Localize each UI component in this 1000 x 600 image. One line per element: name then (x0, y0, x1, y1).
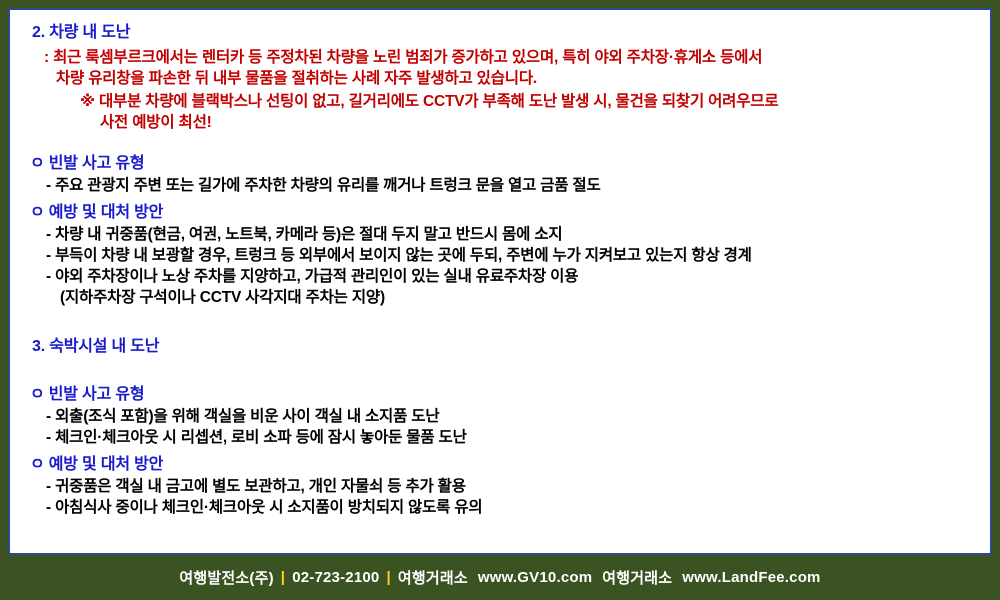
footer-separator-2: | (379, 569, 397, 586)
footer-phone: 02-723-2100 (292, 569, 379, 586)
slide-content: 2. 차량 내 도난 : 최근 룩셈부르크에서는 렌터카 등 주정차된 차량을 … (10, 10, 990, 553)
spacer (24, 358, 976, 384)
spacer (24, 133, 976, 153)
section-3-group-1-item-2: - 체크인·체크아웃 시 리셉션, 로비 소파 등에 잠시 놓아둔 물품 도난 (24, 427, 976, 448)
spacer (24, 308, 976, 334)
footer-company: 여행발전소(주) (179, 567, 273, 588)
section-2-note-line-2: 사전 예방이 최선! (24, 112, 976, 133)
section-2-group-2-item-2: - 부득이 차량 내 보광할 경우, 트렁크 등 외부에서 보이지 않는 곳에 … (24, 245, 976, 266)
slide-frame: 2. 차량 내 도난 : 최근 룩셈부르크에서는 렌터카 등 주정차된 차량을 … (0, 0, 1000, 600)
section-2-group-2-item-4: (지하주차장 구석이나 CCTV 사각지대 주차는 지양) (24, 287, 976, 308)
footer-partner-2-url[interactable]: www.LandFee.com (682, 569, 820, 586)
section-2-note-line-1: ※ 대부분 차량에 블랙박스나 선팅이 없고, 길거리에도 CCTV가 부족해 … (24, 91, 976, 112)
footer-partner-1-name: 여행거래소 (398, 567, 468, 588)
section-3-group-2-item-2: - 아침식사 중이나 체크인·체크아웃 시 소지품이 방치되지 않도록 유의 (24, 497, 976, 518)
section-2-group-1-item-1: - 주요 관광지 주변 또는 길가에 주차한 차량의 유리를 깨거나 트렁크 문… (24, 175, 976, 196)
section-2-group-2-heading: ㅇ 예방 및 대처 방안 (24, 202, 976, 224)
section-3-group-1-heading: ㅇ 빈발 사고 유형 (24, 384, 976, 406)
footer-partner-1-url[interactable]: www.GV10.com (478, 569, 592, 586)
footer-bar: 여행발전소(주) | 02-723-2100 | 여행거래소 www.GV10.… (0, 555, 1000, 600)
section-3-group-1-item-1: - 외출(조식 포함)을 위해 객실을 비운 사이 객실 내 소지품 도난 (24, 406, 976, 427)
footer-partner-2-name: 여행거래소 (602, 567, 672, 588)
section-2-group-1-heading: ㅇ 빈발 사고 유형 (24, 153, 976, 175)
section-3-group-2-heading: ㅇ 예방 및 대처 방안 (24, 454, 976, 476)
section-title-2: 2. 차량 내 도난 (24, 22, 976, 44)
slide-inner-frame: 2. 차량 내 도난 : 최근 룩셈부르크에서는 렌터카 등 주정차된 차량을 … (8, 8, 992, 555)
section-2-group-2-item-1: - 차량 내 귀중품(현금, 여권, 노트북, 카메라 등)은 절대 두지 말고… (24, 224, 976, 245)
section-2-group-2-item-3: - 야외 주차장이나 노상 주차를 지양하고, 가급적 관리인이 있는 실내 유… (24, 266, 976, 287)
footer-separator-1: | (274, 569, 292, 586)
section-2-intro-line-2: 차량 유리창을 파손한 뒤 내부 물품을 절취하는 사례 자주 발생하고 있습니… (24, 68, 976, 89)
section-2-intro-line-1: : 최근 룩셈부르크에서는 렌터카 등 주정차된 차량을 노린 범죄가 증가하고… (24, 47, 976, 68)
footer-text: 여행발전소(주) | 02-723-2100 | 여행거래소 www.GV10.… (179, 567, 820, 588)
section-title-3: 3. 숙박시설 내 도난 (24, 336, 976, 358)
section-3-group-2-item-1: - 귀중품은 객실 내 금고에 별도 보관하고, 개인 자물쇠 등 추가 활용 (24, 476, 976, 497)
